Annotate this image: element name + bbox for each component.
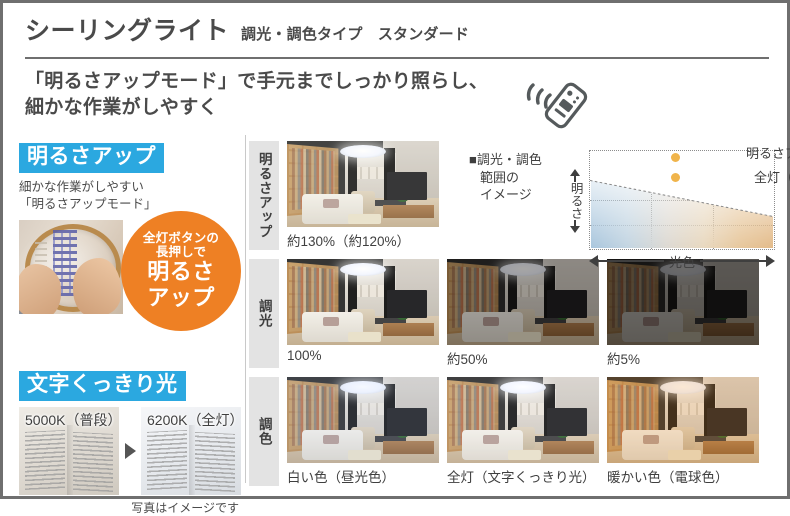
chart-legend-line-3: イメージ — [480, 186, 561, 204]
hand-left — [19, 264, 61, 314]
badge-line-4: アップ — [147, 286, 215, 311]
grid-cell: 100% — [287, 259, 439, 368]
header-divider — [25, 57, 769, 59]
column-divider — [245, 135, 246, 483]
room-photo-5 — [607, 259, 759, 345]
chart-x-axis-label: 光色 — [664, 252, 700, 271]
room-photo-warm — [607, 377, 759, 463]
badge-line-1: 全灯ボタンの — [143, 231, 219, 245]
cell-caption: 約130%（約120%） — [287, 230, 439, 250]
grid-cell: 白い色（昼光色） — [287, 377, 439, 486]
room-photo-100 — [287, 259, 439, 345]
row-label-color-tuning: 調色 — [249, 377, 279, 486]
brightness-up-badge: 全灯ボタンの 長押しで 明るさ アップ — [121, 211, 241, 331]
chart-annotation-brightness-up: 明るさアップモード — [746, 143, 790, 162]
cell-caption: 全灯（文字くっきり光） — [447, 466, 599, 486]
chart-annotation-all-on: 全灯（文字くっきり光） — [754, 167, 790, 186]
row-label-brightness-up: 明るさアップ — [249, 141, 279, 250]
product-catalog-page: シーリングライト 調光・調色タイプ スタンダード 「明るさアップモード」で手元ま… — [0, 0, 790, 499]
book-photo-6200k: 6200K（全灯） — [141, 407, 241, 495]
book-page-text-left — [25, 430, 65, 490]
row-label-dimming: 調光 — [249, 259, 279, 368]
cell-caption: 白い色（昼光色） — [287, 466, 439, 486]
page-title: シーリングライト — [25, 19, 229, 44]
comparison-arrow — [119, 407, 141, 495]
room-photo-daylight — [287, 377, 439, 463]
book-page-text-right — [73, 432, 113, 492]
arrow-up-icon — [570, 169, 580, 176]
grid-cell: 全灯（文字くっきり光） — [447, 377, 599, 486]
chart-legend-line-1: ■調光・調色 — [469, 151, 561, 169]
grid-cell: 暖かい色（電球色） — [607, 377, 759, 486]
lead-copy: 「明るさアップモード」で手元までしっかり照らし、 細かな作業がしやすく — [25, 69, 545, 120]
arrow-left-icon — [589, 255, 598, 267]
remote-control-icon — [511, 69, 597, 131]
page-subtitle: 調光・調色タイプ スタンダード — [241, 23, 469, 44]
arrow-right-icon — [766, 255, 775, 267]
brightness-up-note-line-2: 「明るさアップモード」 — [19, 196, 241, 213]
chart-marker-brightness-up-mode — [671, 153, 680, 162]
chart-legend-line-2: 範囲の — [480, 169, 561, 187]
cell-caption: 約5% — [607, 348, 759, 368]
chart-gradient-band — [591, 180, 773, 248]
chart-legend: ■調光・調色 範囲の イメージ — [469, 151, 561, 204]
room-photo-all-on — [447, 377, 599, 463]
chart-x-axis: 光色 — [589, 253, 775, 269]
embroidery-photo — [19, 220, 123, 314]
text-clarity-section: 文字くっきり光 5000K（普段） 6200K（全灯） 写真はイメージです — [19, 371, 241, 516]
room-photo-50 — [447, 259, 599, 345]
brightness-up-note: 細かな作業がしやすい 「明るさアップモード」 — [19, 179, 241, 213]
section-heading-brightness-up: 明るさアップ — [19, 143, 164, 173]
lead-line-1: 「明るさアップモード」で手元までしっかり照らし、 — [25, 69, 545, 95]
cell-caption: 暖かい色（電球色） — [607, 466, 759, 486]
badge-line-2: 長押しで — [156, 245, 206, 259]
photo-disclaimer: 写真はイメージです — [19, 499, 241, 516]
lead-line-2: 細かな作業がしやすく — [25, 95, 545, 121]
book-comparison-row: 5000K（普段） 6200K（全灯） — [19, 407, 241, 495]
grid-row-color-tuning: 調色 白い色（昼光色） — [249, 377, 759, 486]
arrow-down-icon — [570, 226, 580, 233]
section-heading-text-clarity: 文字くっきり光 — [19, 371, 186, 401]
chart-plot-area: 明るさアップモード 全灯（文字くっきり光） — [589, 150, 775, 250]
book-caption-6200k: 6200K（全灯） — [147, 410, 241, 430]
badge-line-3: 明るさ — [147, 260, 215, 285]
cell-caption: 約50% — [447, 348, 599, 368]
book-caption-5000k: 5000K（普段） — [25, 410, 119, 430]
grid-cell: 約50% — [447, 259, 599, 368]
triangle-right-icon — [125, 443, 136, 459]
chart-y-axis-label: 明るさ — [568, 182, 581, 220]
chart-y-axis: 明るさ — [565, 151, 585, 251]
chart-marker-all-on — [671, 173, 680, 182]
grid-cell: 約130%（約120%） — [287, 141, 439, 250]
brightness-up-note-line-1: 細かな作業がしやすい — [19, 179, 241, 196]
cell-caption: 100% — [287, 348, 439, 363]
room-photo-130 — [287, 141, 439, 227]
page-header: シーリングライト 調光・調色タイプ スタンダード — [25, 19, 769, 44]
book-page-text-left — [147, 430, 187, 490]
book-page-text-right — [195, 432, 235, 492]
dimming-color-range-chart: ■調光・調色 範囲の イメージ 明るさ — [469, 143, 779, 263]
grid-row-dimming: 調光 100% — [249, 259, 759, 368]
grid-cell: 約5% — [607, 259, 759, 368]
book-photo-5000k: 5000K（普段） — [19, 407, 119, 495]
hand-right — [73, 258, 121, 314]
